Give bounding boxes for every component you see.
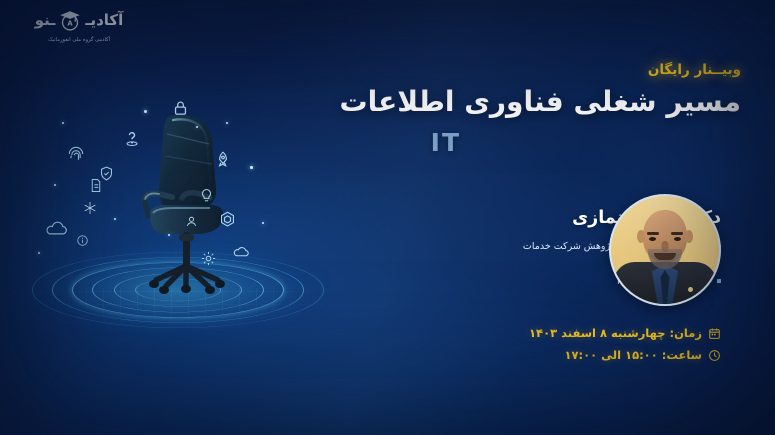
logo-word-left: ـنو: [35, 13, 56, 28]
svg-text:A: A: [68, 19, 74, 27]
schedule-time-label: ساعت: ۱۵:۰۰ الی ۱۷:۰۰: [564, 348, 702, 362]
logo-lockup: آکادیـ A ـنو: [14, 7, 144, 33]
graduation-cap-icon: A: [57, 7, 83, 33]
office-chair-illustration: [18, 92, 348, 342]
webinar-poster: آکادیـ A ـنو آکادمی گروه ملی انفورماتیک: [0, 0, 775, 435]
brand-logo[interactable]: آکادیـ A ـنو آکادمی گروه ملی انفورماتیک: [14, 7, 144, 43]
chair-graphic: [126, 110, 244, 300]
gear-icon: [200, 250, 217, 271]
cloud-upload-icon: [232, 244, 250, 263]
hexagon-chip-icon: [218, 210, 237, 233]
schedule-date-label: زمان: چهارشنبه ۸ اسفند ۱۴۰۳: [529, 326, 702, 340]
fingerprint-icon: [66, 144, 86, 168]
bulb-icon: [200, 188, 213, 208]
page-title: مسیر شغلی فناوری اطلاعات: [340, 86, 742, 118]
logo-subtitle: آکادمی گروه ملی انفورماتیک: [14, 37, 144, 43]
schedule-row-date: زمان: چهارشنبه ۸ اسفند ۱۴۰۳: [471, 326, 721, 340]
question-mark-icon: [122, 128, 142, 152]
cloud-icon: [43, 220, 69, 242]
avatar: [609, 194, 721, 306]
schedule-block: زمان: چهارشنبه ۸ اسفند ۱۴۰۳ ساعت: ۱۵:۰۰ …: [471, 326, 721, 370]
snowflake-icon: [82, 200, 98, 220]
info-icon: [76, 232, 89, 251]
schedule-row-time: ساعت: ۱۵:۰۰ الی ۱۷:۰۰: [471, 348, 721, 362]
rocket-icon: [214, 150, 232, 172]
logo-word-right: آکادیـ: [85, 13, 123, 28]
eyebrow-label: وبیــنار رایگان: [648, 62, 741, 78]
clock-icon: [708, 349, 721, 362]
title-subscript: IT: [431, 128, 461, 157]
content-column: وبیــنار رایگان مسیر شغلی فناوری اطلاعات…: [329, 0, 749, 435]
user-icon: [184, 214, 199, 233]
document-icon: [90, 178, 102, 197]
calendar-icon: [708, 327, 721, 340]
lock-icon: [172, 100, 189, 121]
